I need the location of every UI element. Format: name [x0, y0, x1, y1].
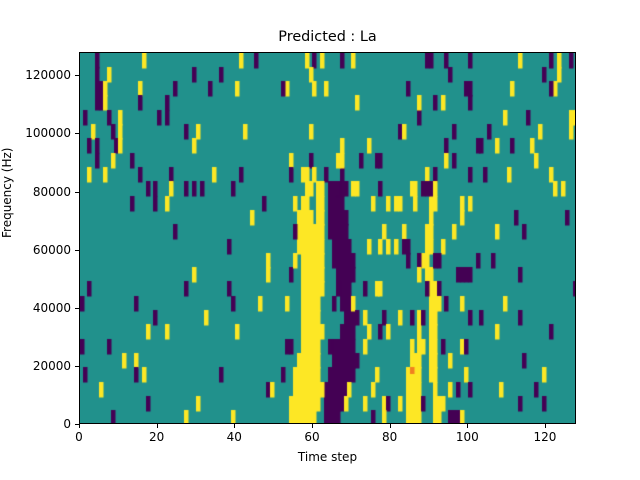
heatmap-canvas [80, 53, 576, 424]
y-tick-mark [75, 308, 79, 309]
x-tick-mark [467, 424, 468, 428]
y-tick-mark [75, 75, 79, 76]
x-tick-label: 0 [49, 430, 109, 444]
x-tick-label: 100 [437, 430, 497, 444]
heatmap-axes [79, 52, 576, 424]
y-tick-mark [75, 366, 79, 367]
x-tick-mark [234, 424, 235, 428]
y-tick-label: 20000 [7, 360, 71, 372]
x-tick-label: 60 [282, 430, 342, 444]
x-tick-label: 80 [360, 430, 420, 444]
y-tick-label: 40000 [7, 302, 71, 314]
x-tick-mark [312, 424, 313, 428]
y-tick-label: 0 [7, 418, 71, 430]
x-tick-mark [545, 424, 546, 428]
figure: Predicted : La 0200004000060000800001000… [0, 0, 640, 480]
x-tick-mark [79, 424, 80, 428]
x-tick-mark [390, 424, 391, 428]
y-tick-mark [75, 133, 79, 134]
y-axis-label: Frequency (Hz) [0, 148, 14, 239]
y-tick-label: 80000 [7, 186, 71, 198]
x-tick-label: 120 [515, 430, 575, 444]
x-tick-label: 20 [127, 430, 187, 444]
y-tick-label: 100000 [7, 127, 71, 139]
y-tick-mark [75, 192, 79, 193]
y-tick-label: 60000 [7, 244, 71, 256]
x-tick-label: 40 [204, 430, 264, 444]
x-axis-label: Time step [79, 450, 576, 464]
y-tick-mark [75, 250, 79, 251]
chart-title: Predicted : La [79, 28, 576, 46]
y-tick-label: 120000 [7, 69, 71, 81]
x-tick-mark [157, 424, 158, 428]
